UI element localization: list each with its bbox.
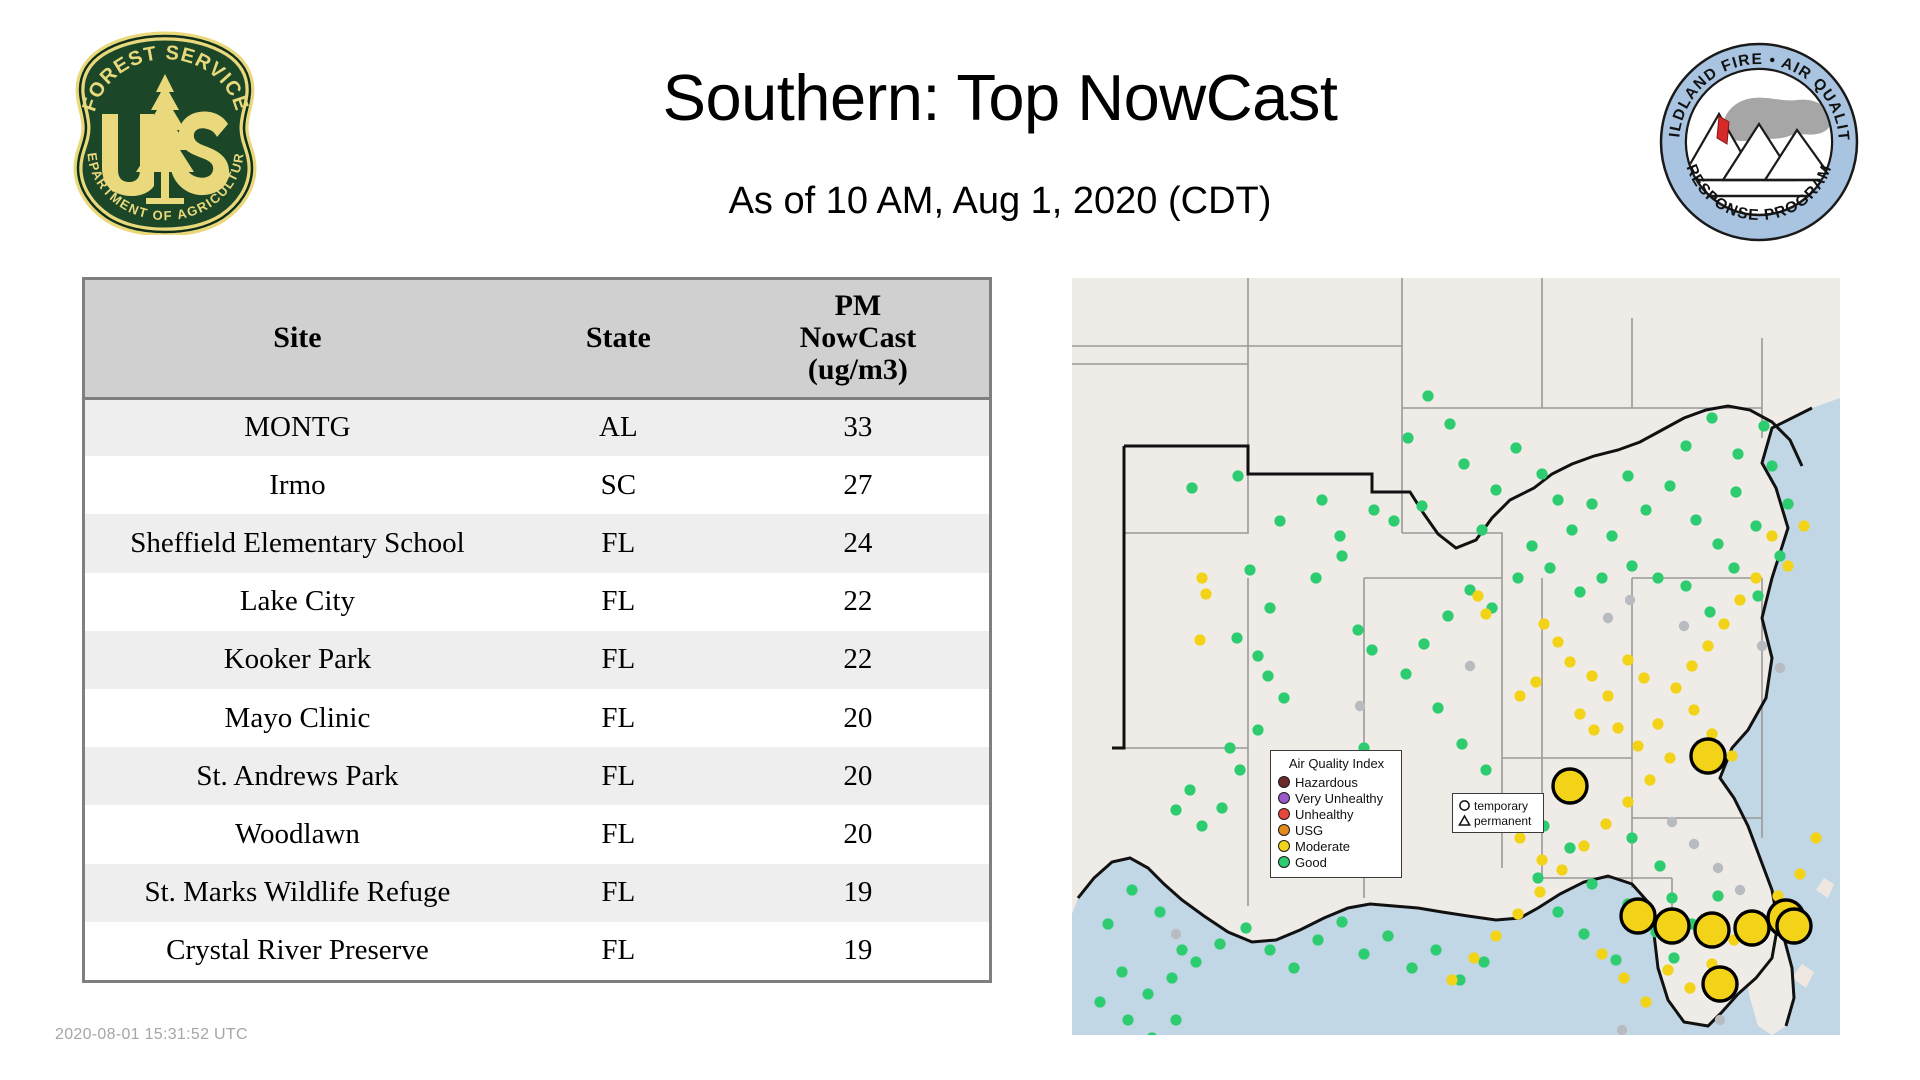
- aqi-legend-item: Good: [1278, 854, 1395, 870]
- monitor-dot-good[interactable]: [1422, 390, 1433, 401]
- monitor-dot-good[interactable]: [1232, 470, 1243, 481]
- monitor-dot-moderate[interactable]: [1810, 832, 1821, 843]
- table-row: IrmoSC27: [85, 456, 989, 514]
- table-row: Lake CityFL22: [85, 573, 989, 631]
- monitor-dot-moderate[interactable]: [1688, 704, 1699, 715]
- monitor-dot-good[interactable]: [1732, 448, 1743, 459]
- monitor-dot-offline[interactable]: [1667, 817, 1677, 827]
- monitor-dot-good[interactable]: [1712, 890, 1723, 901]
- page-title: Southern: Top NowCast: [360, 60, 1640, 135]
- monitor-dot-moderate[interactable]: [1644, 774, 1655, 785]
- monitor-dot-good[interactable]: [1154, 906, 1165, 917]
- monitor-dot-moderate[interactable]: [1472, 590, 1483, 601]
- aqi-legend-label: Unhealthy: [1295, 807, 1354, 822]
- monitor-dot-good[interactable]: [1196, 820, 1207, 831]
- monitor-dot-offline[interactable]: [1355, 701, 1365, 711]
- monitor-dot-good[interactable]: [1626, 560, 1637, 571]
- monitor-dot-good[interactable]: [1388, 515, 1399, 526]
- aqi-legend-label: Hazardous: [1295, 775, 1358, 790]
- monitor-dot-good[interactable]: [1564, 842, 1575, 853]
- aqi-legend-label: Moderate: [1295, 839, 1350, 854]
- monitor-dot-good[interactable]: [1430, 944, 1441, 955]
- monitor-dot-good[interactable]: [1252, 650, 1263, 661]
- monitor-dot-good[interactable]: [1142, 988, 1153, 999]
- permanent-triangle-icon: [1458, 814, 1471, 827]
- table-row: WoodlawnFL20: [85, 805, 989, 863]
- pm-nowcast-value: 20: [727, 747, 989, 805]
- monitor-dot-good[interactable]: [1480, 764, 1491, 775]
- monitor-dot-good[interactable]: [1274, 515, 1285, 526]
- monitor-dot-moderate[interactable]: [1490, 930, 1501, 941]
- monitor-dot-good[interactable]: [1712, 538, 1723, 549]
- monitor-dot-good[interactable]: [1234, 764, 1245, 775]
- monitor-dot-good[interactable]: [1596, 572, 1607, 583]
- monitor-dot-offline[interactable]: [1689, 839, 1699, 849]
- aqi-legend-item: Unhealthy: [1278, 806, 1395, 822]
- aqi-legend-item: Hazardous: [1278, 774, 1395, 790]
- monitor-dot-good[interactable]: [1640, 504, 1651, 515]
- monitor-dot-moderate[interactable]: [1530, 676, 1541, 687]
- monitor-dot-moderate[interactable]: [1766, 530, 1777, 541]
- monitor-dot-good[interactable]: [1458, 458, 1469, 469]
- site-name: Crystal River Preserve: [85, 922, 510, 980]
- monitor-dot-moderate[interactable]: [1556, 864, 1567, 875]
- monitor-dot-good[interactable]: [1334, 530, 1345, 541]
- highlighted-top-site-marker[interactable]: [1621, 899, 1655, 933]
- monitor-dot-moderate[interactable]: [1612, 722, 1623, 733]
- pm-nowcast-value: 22: [727, 631, 989, 689]
- monitor-dot-moderate[interactable]: [1600, 818, 1611, 829]
- site-name: Mayo Clinic: [85, 689, 510, 747]
- monitor-dot-moderate[interactable]: [1196, 572, 1207, 583]
- aqi-legend-title: Air Quality Index: [1278, 756, 1395, 771]
- table-row: Sheffield Elementary SchoolFL24: [85, 514, 989, 572]
- aqi-legend-label: Good: [1295, 855, 1327, 870]
- monitor-dot-good[interactable]: [1680, 580, 1691, 591]
- monitor-dot-good[interactable]: [1680, 440, 1691, 451]
- monitor-dot-good[interactable]: [1478, 956, 1489, 967]
- monitor-dot-moderate[interactable]: [1734, 594, 1745, 605]
- aqi-legend-item: Moderate: [1278, 838, 1395, 854]
- pm-nowcast-value: 33: [727, 398, 989, 456]
- aqi-legend-label: USG: [1295, 823, 1323, 838]
- monitor-dot-moderate[interactable]: [1702, 640, 1713, 651]
- monitor-dot-good[interactable]: [1610, 954, 1621, 965]
- monitor-dot-moderate[interactable]: [1670, 682, 1681, 693]
- monitor-dot-good[interactable]: [1366, 644, 1377, 655]
- monitor-dot-good[interactable]: [1336, 550, 1347, 561]
- highlighted-top-site-marker[interactable]: [1695, 913, 1729, 947]
- monitor-dot-moderate[interactable]: [1514, 690, 1525, 701]
- monitor-dot-offline[interactable]: [1625, 595, 1635, 605]
- monitor-dot-good[interactable]: [1214, 938, 1225, 949]
- aqi-legend: Air Quality Index HazardousVery Unhealth…: [1270, 750, 1402, 878]
- table-row: St. Marks Wildlife RefugeFL19: [85, 864, 989, 922]
- monitor-dot-good[interactable]: [1704, 606, 1715, 617]
- site-name: Woodlawn: [85, 805, 510, 863]
- pm-nowcast-value: 27: [727, 456, 989, 514]
- monitor-dot-moderate[interactable]: [1588, 724, 1599, 735]
- monitor-dot-moderate[interactable]: [1622, 796, 1633, 807]
- monitor-dot-good[interactable]: [1566, 524, 1577, 535]
- pm-nowcast-value: 20: [727, 689, 989, 747]
- pm-nowcast-value: 22: [727, 573, 989, 631]
- monitor-dot-moderate[interactable]: [1512, 908, 1523, 919]
- monitor-dot-moderate[interactable]: [1552, 636, 1563, 647]
- monitor-dot-moderate[interactable]: [1586, 670, 1597, 681]
- monitor-dot-good[interactable]: [1184, 784, 1195, 795]
- state-code: FL: [510, 514, 727, 572]
- monitor-dot-moderate[interactable]: [1662, 964, 1673, 975]
- monitor-dot-offline[interactable]: [1171, 929, 1181, 939]
- monitor-dot-good[interactable]: [1536, 468, 1547, 479]
- monitor-dot-good[interactable]: [1774, 550, 1785, 561]
- monitor-dot-good[interactable]: [1402, 432, 1413, 443]
- site-name: Lake City: [85, 573, 510, 631]
- generated-timestamp: 2020-08-01 15:31:52 UTC: [55, 1026, 248, 1044]
- monitor-dot-offline[interactable]: [1603, 613, 1613, 623]
- site-name: Kooker Park: [85, 631, 510, 689]
- pm-header-line2: NowCast: [731, 322, 985, 354]
- monitor-dot-good[interactable]: [1244, 564, 1255, 575]
- monitor-dot-good[interactable]: [1406, 962, 1417, 973]
- monitor-dot-moderate[interactable]: [1200, 588, 1211, 599]
- monitor-dot-moderate[interactable]: [1622, 654, 1633, 665]
- monitor-dot-good[interactable]: [1664, 480, 1675, 491]
- monitor-dot-good[interactable]: [1606, 530, 1617, 541]
- highlighted-top-site-marker[interactable]: [1691, 739, 1725, 773]
- monitor-dot-good[interactable]: [1510, 442, 1521, 453]
- table-row: Mayo ClinicFL20: [85, 689, 989, 747]
- monitor-dot-moderate[interactable]: [1652, 718, 1663, 729]
- table-row: Crystal River PreserveFL19: [85, 922, 989, 980]
- monitor-dot-good[interactable]: [1190, 956, 1201, 967]
- monitor-dot-good[interactable]: [1752, 590, 1763, 601]
- monitor-dot-good[interactable]: [1532, 872, 1543, 883]
- state-code: FL: [510, 922, 727, 980]
- monitor-dot-offline[interactable]: [1713, 863, 1723, 873]
- highlighted-top-site-marker[interactable]: [1735, 911, 1769, 945]
- monitor-dot-moderate[interactable]: [1686, 660, 1697, 671]
- monitor-dot-good[interactable]: [1216, 802, 1227, 813]
- wfaqrp-seal-logo: WILDLAND FIRE • AIR QUALITY RESPONSE PRO…: [1657, 40, 1862, 245]
- site-type-legend: temporary permanent: [1452, 793, 1544, 833]
- monitor-dot-moderate[interactable]: [1640, 996, 1651, 1007]
- state-code: FL: [510, 805, 727, 863]
- monitor-dot-good[interactable]: [1552, 906, 1563, 917]
- highlighted-top-site-marker[interactable]: [1655, 909, 1689, 943]
- southern-region-map[interactable]: Air Quality Index HazardousVery Unhealth…: [1072, 278, 1840, 1035]
- monitor-dot-good[interactable]: [1666, 892, 1677, 903]
- pm-nowcast-value: 20: [727, 805, 989, 863]
- monitor-dot-good[interactable]: [1766, 460, 1777, 471]
- column-header-pm-nowcast: PM NowCast (ug/m3): [727, 280, 989, 398]
- highlighted-top-site-marker[interactable]: [1703, 967, 1737, 1001]
- monitor-dot-good[interactable]: [1490, 484, 1501, 495]
- monitor-dot-good[interactable]: [1126, 884, 1137, 895]
- top-nowcast-table: Site State PM NowCast (ug/m3) MONTGAL33I…: [82, 277, 992, 983]
- monitor-dot-good[interactable]: [1728, 562, 1739, 573]
- monitor-dot-moderate[interactable]: [1468, 952, 1479, 963]
- monitor-dot-good[interactable]: [1626, 832, 1637, 843]
- monitor-dot-good[interactable]: [1382, 930, 1393, 941]
- monitor-dot-good[interactable]: [1122, 1014, 1133, 1025]
- pm-nowcast-value: 24: [727, 514, 989, 572]
- monitor-dot-good[interactable]: [1416, 500, 1427, 511]
- monitor-dot-good[interactable]: [1442, 610, 1453, 621]
- monitor-dot-good[interactable]: [1512, 572, 1523, 583]
- monitor-dot-good[interactable]: [1352, 624, 1363, 635]
- aqi-legend-label: Very Unhealthy: [1295, 791, 1383, 806]
- highlighted-top-site-marker[interactable]: [1553, 769, 1587, 803]
- site-name: St. Marks Wildlife Refuge: [85, 864, 510, 922]
- table-body: MONTGAL33IrmoSC27Sheffield Elementary Sc…: [85, 398, 989, 980]
- temporary-label: temporary: [1474, 799, 1528, 813]
- state-code: FL: [510, 573, 727, 631]
- monitor-dot-moderate[interactable]: [1664, 752, 1675, 763]
- monitor-dot-good[interactable]: [1231, 632, 1242, 643]
- state-code: FL: [510, 689, 727, 747]
- monitor-dot-good[interactable]: [1578, 928, 1589, 939]
- monitor-dot-good[interactable]: [1116, 966, 1127, 977]
- pm-header-line3: (ug/m3): [731, 354, 985, 386]
- permanent-label: permanent: [1474, 814, 1531, 828]
- monitor-dot-moderate[interactable]: [1194, 634, 1205, 645]
- aqi-swatch-icon: [1278, 792, 1290, 804]
- monitor-dot-good[interactable]: [1176, 944, 1187, 955]
- monitor-dot-good[interactable]: [1574, 586, 1585, 597]
- monitor-dot-good[interactable]: [1310, 572, 1321, 583]
- monitor-dot-offline[interactable]: [1617, 1025, 1627, 1035]
- monitor-dot-good[interactable]: [1186, 482, 1197, 493]
- monitor-dot-good[interactable]: [1654, 860, 1665, 871]
- monitor-dot-moderate[interactable]: [1536, 854, 1547, 865]
- monitor-dot-moderate[interactable]: [1726, 750, 1737, 761]
- aqi-swatch-icon: [1278, 808, 1290, 820]
- monitor-dot-offline[interactable]: [1735, 885, 1745, 895]
- monitor-dot-good[interactable]: [1252, 724, 1263, 735]
- temporary-circle-icon: [1458, 799, 1471, 812]
- aqi-swatch-icon: [1278, 856, 1290, 868]
- state-code: SC: [510, 456, 727, 514]
- monitor-dot-good[interactable]: [1586, 498, 1597, 509]
- monitor-dot-good[interactable]: [1668, 952, 1679, 963]
- table-row: MONTGAL33: [85, 398, 989, 456]
- monitor-dot-good[interactable]: [1782, 498, 1793, 509]
- monitor-dot-good[interactable]: [1544, 562, 1555, 573]
- state-code: FL: [510, 747, 727, 805]
- monitor-dot-good[interactable]: [1312, 934, 1323, 945]
- monitor-dot-offline[interactable]: [1679, 621, 1689, 631]
- pm-header-line1: PM: [731, 290, 985, 322]
- monitor-dot-good[interactable]: [1418, 638, 1429, 649]
- monitor-dot-moderate[interactable]: [1596, 948, 1607, 959]
- table-row: Kooker ParkFL22: [85, 631, 989, 689]
- site-name: St. Andrews Park: [85, 747, 510, 805]
- aqi-legend-item: USG: [1278, 822, 1395, 838]
- monitor-dot-moderate[interactable]: [1538, 618, 1549, 629]
- monitor-dot-good[interactable]: [1706, 412, 1717, 423]
- state-code: FL: [510, 864, 727, 922]
- monitor-dot-good[interactable]: [1476, 524, 1487, 535]
- pm-nowcast-value: 19: [727, 864, 989, 922]
- pm-nowcast-value: 19: [727, 922, 989, 980]
- monitor-dot-good[interactable]: [1690, 514, 1701, 525]
- monitor-dot-good[interactable]: [1622, 470, 1633, 481]
- highlighted-top-site-marker[interactable]: [1777, 909, 1811, 943]
- monitor-dot-good[interactable]: [1264, 944, 1275, 955]
- monitor-dot-good[interactable]: [1288, 962, 1299, 973]
- monitor-dot-moderate[interactable]: [1638, 672, 1649, 683]
- monitor-dot-good[interactable]: [1262, 670, 1273, 681]
- aqi-swatch-icon: [1278, 824, 1290, 836]
- state-code: AL: [510, 398, 727, 456]
- column-header-site: Site: [85, 280, 510, 398]
- usfs-shield-logo: FOREST SERVICE DEPARTMENT OF AGRICULTURE: [58, 30, 273, 235]
- monitor-dot-good[interactable]: [1730, 486, 1741, 497]
- monitor-dot-moderate[interactable]: [1446, 974, 1457, 985]
- aqi-legend-item: Very Unhealthy: [1278, 790, 1395, 806]
- monitor-dot-good[interactable]: [1652, 572, 1663, 583]
- monitor-dot-good[interactable]: [1432, 702, 1443, 713]
- monitor-dot-good[interactable]: [1586, 878, 1597, 889]
- monitor-dot-good[interactable]: [1526, 540, 1537, 551]
- monitor-dot-moderate[interactable]: [1798, 520, 1809, 531]
- monitor-dot-good[interactable]: [1750, 520, 1761, 531]
- monitor-dot-offline[interactable]: [1465, 661, 1475, 671]
- monitor-dot-good[interactable]: [1224, 742, 1235, 753]
- monitor-dot-good[interactable]: [1102, 918, 1113, 929]
- monitor-dot-good[interactable]: [1170, 804, 1181, 815]
- monitor-dot-good[interactable]: [1264, 602, 1275, 613]
- monitor-dot-offline[interactable]: [1715, 1015, 1725, 1025]
- monitor-dot-moderate[interactable]: [1684, 982, 1695, 993]
- monitor-dot-moderate[interactable]: [1794, 868, 1805, 879]
- monitor-dot-moderate[interactable]: [1750, 572, 1761, 583]
- monitor-dot-good[interactable]: [1358, 948, 1369, 959]
- monitor-dot-moderate[interactable]: [1514, 832, 1525, 843]
- monitor-dot-moderate[interactable]: [1718, 618, 1729, 629]
- page-subtitle: As of 10 AM, Aug 1, 2020 (CDT): [360, 180, 1640, 223]
- monitor-dot-good[interactable]: [1316, 494, 1327, 505]
- table-row: St. Andrews ParkFL20: [85, 747, 989, 805]
- state-code: FL: [510, 631, 727, 689]
- site-type-temporary-row: temporary: [1458, 798, 1538, 813]
- monitor-dot-good[interactable]: [1368, 504, 1379, 515]
- monitor-dot-good[interactable]: [1170, 1014, 1181, 1025]
- monitor-dot-offline[interactable]: [1757, 641, 1767, 651]
- table-header-row: Site State PM NowCast (ug/m3): [85, 280, 989, 398]
- monitor-dot-moderate[interactable]: [1480, 608, 1491, 619]
- monitor-dot-moderate[interactable]: [1564, 656, 1575, 667]
- site-name: MONTG: [85, 398, 510, 456]
- monitor-dot-good[interactable]: [1456, 738, 1467, 749]
- monitor-dot-good[interactable]: [1240, 922, 1251, 933]
- monitor-dot-good[interactable]: [1552, 494, 1563, 505]
- monitor-dot-moderate[interactable]: [1632, 740, 1643, 751]
- monitor-dot-moderate[interactable]: [1578, 840, 1589, 851]
- monitor-dot-good[interactable]: [1278, 692, 1289, 703]
- site-type-permanent-row: permanent: [1458, 813, 1538, 828]
- column-header-state: State: [510, 280, 727, 398]
- aqi-legend-rows: HazardousVery UnhealthyUnhealthyUSGModer…: [1278, 774, 1395, 870]
- aqi-swatch-icon: [1278, 776, 1290, 788]
- monitor-dot-good[interactable]: [1336, 916, 1347, 927]
- monitor-dot-moderate[interactable]: [1782, 560, 1793, 571]
- monitor-dot-good[interactable]: [1758, 420, 1769, 431]
- monitor-dot-good[interactable]: [1444, 418, 1455, 429]
- monitor-dot-moderate[interactable]: [1602, 690, 1613, 701]
- map-canvas: [1072, 278, 1840, 1035]
- monitor-dot-moderate[interactable]: [1618, 972, 1629, 983]
- site-name: Sheffield Elementary School: [85, 514, 510, 572]
- monitor-dot-good[interactable]: [1094, 996, 1105, 1007]
- monitor-dot-moderate[interactable]: [1574, 708, 1585, 719]
- aqi-swatch-icon: [1278, 840, 1290, 852]
- site-name: Irmo: [85, 456, 510, 514]
- monitor-dot-good[interactable]: [1400, 668, 1411, 679]
- monitor-dot-good[interactable]: [1166, 972, 1177, 983]
- monitor-dot-offline[interactable]: [1775, 663, 1785, 673]
- monitor-dot-moderate[interactable]: [1534, 886, 1545, 897]
